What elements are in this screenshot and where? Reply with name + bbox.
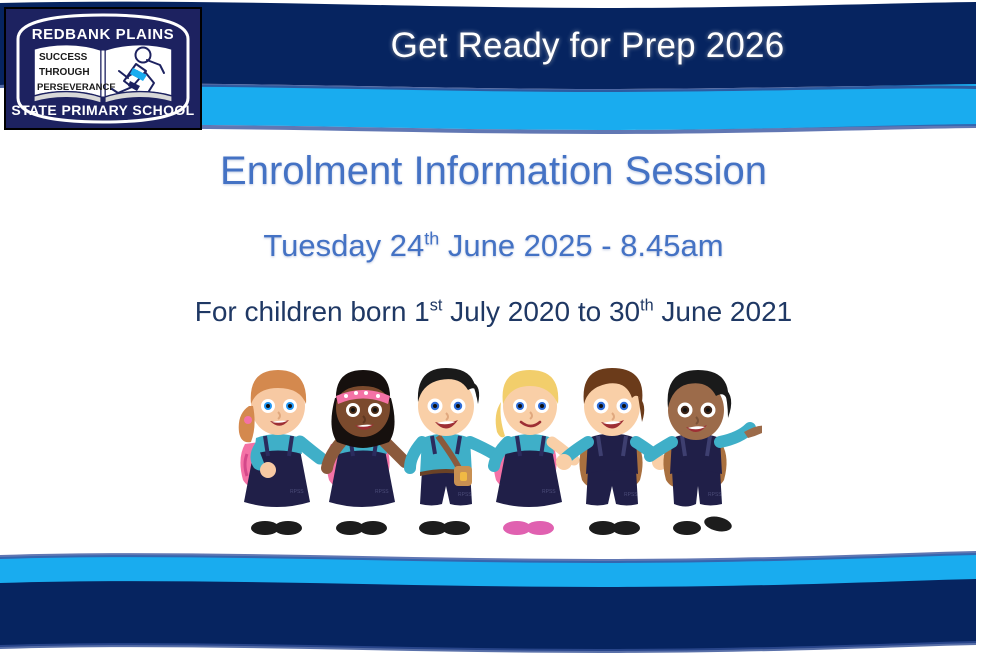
header-title: Get Ready for Prep 2026 <box>200 20 975 72</box>
child-1: RPSS <box>239 370 320 535</box>
logo-motto-line-2: THROUGH <box>39 67 90 78</box>
svg-text:RPSS: RPSS <box>290 489 304 495</box>
child-2: RPSS <box>326 370 405 535</box>
eligibility-ordinal-1: st <box>430 297 443 315</box>
svg-text:RPSS: RPSS <box>708 492 722 498</box>
eligibility-ordinal-2: th <box>640 297 654 315</box>
svg-text:RPSS: RPSS <box>542 489 556 495</box>
logo-top-text: REDBANK PLAINS <box>32 26 175 43</box>
child-4: RPSS <box>493 370 574 535</box>
session-date-suffix: June 2025 - 8.45am <box>439 228 723 263</box>
logo-motto-line-1: SUCCESS <box>39 52 88 63</box>
session-date-ordinal: th <box>424 229 439 249</box>
logo-bottom-text: STATE PRIMARY SCHOOL <box>11 102 194 118</box>
child-3: RPSS <box>410 368 494 535</box>
svg-text:RPSS: RPSS <box>458 492 472 498</box>
footer-navy-wave <box>0 579 976 651</box>
page-title: Enrolment Information Session <box>0 149 987 194</box>
svg-text:RPSS: RPSS <box>375 489 389 495</box>
eligibility-part-3: June 2021 <box>654 296 793 327</box>
svg-text:RPSS: RPSS <box>624 492 638 498</box>
logo-motto-line-3: PERSEVERANCE <box>37 82 116 93</box>
footer-banner: A community where we belong, engage and … <box>0 545 987 657</box>
session-date-line: Tuesday 24th June 2025 - 8.45am <box>0 228 987 264</box>
child-6: RPSS <box>650 370 762 535</box>
school-logo: REDBANK PLAINS SUCCESS THROUGH PERSEVERA… <box>4 7 202 130</box>
eligibility-part-1: For children born 1 <box>195 296 430 327</box>
six-school-children-illustration: RPSS <box>232 358 762 548</box>
session-date-prefix: Tuesday 24 <box>263 228 424 263</box>
prep-enrolment-flyer: Get Ready for Prep 2026 REDBANK PLAINS S… <box>0 0 987 657</box>
eligibility-part-2: July 2020 to 30 <box>442 296 640 327</box>
eligibility-line: For children born 1st July 2020 to 30th … <box>0 296 987 328</box>
